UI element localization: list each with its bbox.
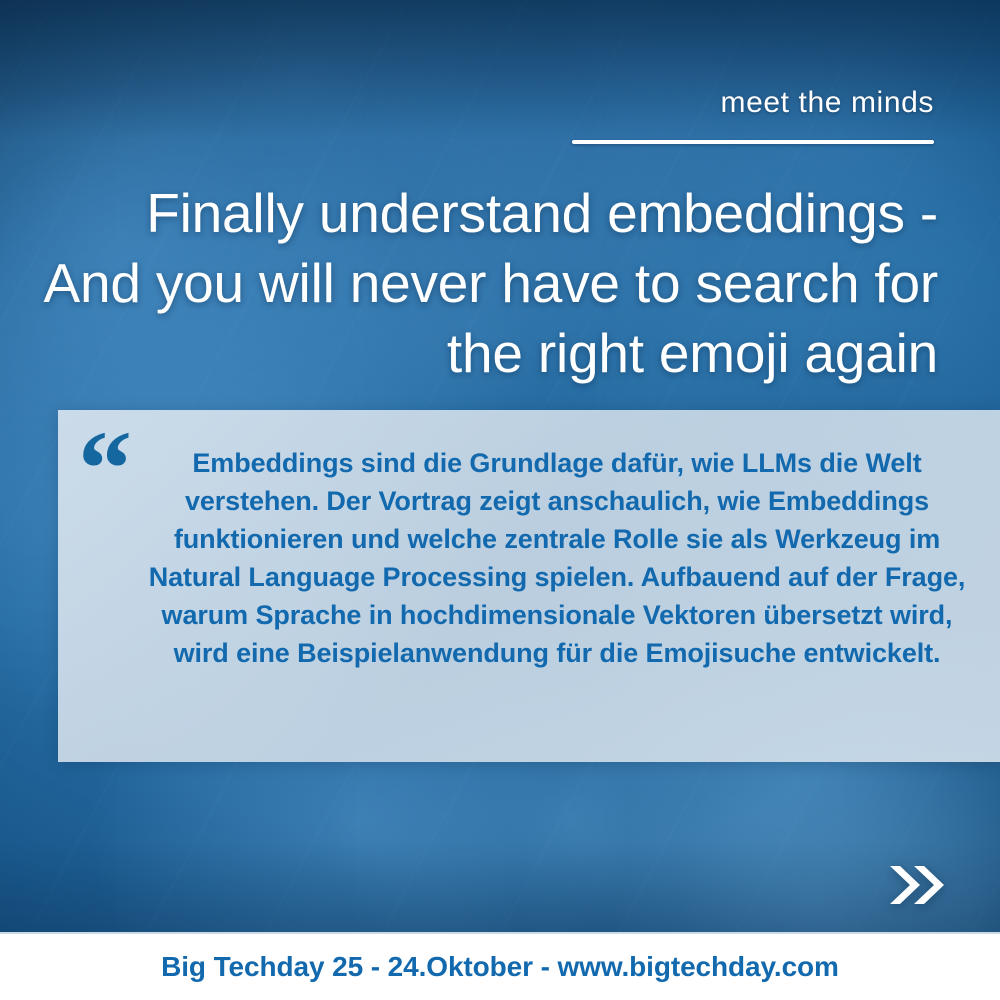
promo-poster: meet the minds Finally understand embedd… <box>0 0 1000 1000</box>
page-title: Finally understand embeddings - And you … <box>38 178 938 388</box>
kicker-block: meet the minds <box>374 88 934 144</box>
headline-line-2: And you will never have to search for <box>38 248 938 318</box>
quote-body-text: Embeddings sind die Grundlage dafür, wie… <box>136 444 978 672</box>
headline-line-1: Finally understand embeddings - <box>38 178 938 248</box>
quotation-mark-icon: “ <box>78 416 132 524</box>
footer-event-info[interactable]: Big Techday 25 - 24.Oktober - www.bigtec… <box>161 951 839 983</box>
double-chevron-right-icon[interactable] <box>886 862 948 908</box>
headline-line-3: the right emoji again <box>38 318 938 388</box>
kicker-text: meet the minds <box>374 88 934 118</box>
quote-panel: “ Embeddings sind die Grundlage dafür, w… <box>58 410 1000 762</box>
footer-bar: Big Techday 25 - 24.Oktober - www.bigtec… <box>0 932 1000 1000</box>
kicker-divider <box>572 140 934 144</box>
